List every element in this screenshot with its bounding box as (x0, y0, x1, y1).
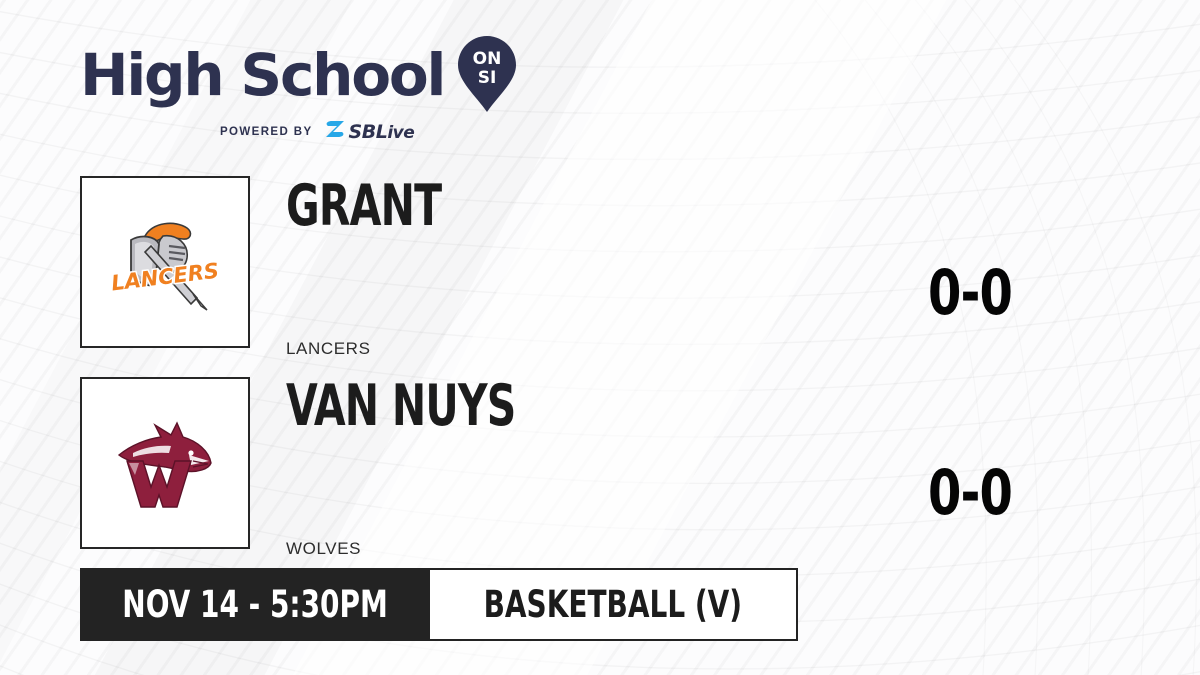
team-logo-box-grant: LANCERS (80, 176, 250, 348)
team-name-grant: GRANT (286, 178, 441, 235)
pin-text-si: SI (478, 68, 497, 88)
brand-wordmark: High School (80, 47, 444, 104)
lancers-banner-text: LANCERS (110, 258, 220, 295)
game-datetime-label: NOV 14 - 5:30PM (122, 583, 388, 626)
team-mascot-wolves: WOLVES (286, 539, 361, 559)
powered-by-label: POWERED BY (220, 126, 313, 138)
van-nuys-wolves-logo (105, 403, 225, 523)
team-mascot-lancers: LANCERS (286, 339, 371, 359)
team-logo-box-van-nuys (80, 377, 250, 549)
sblive-wordmark: SBLive (349, 121, 415, 143)
brand-wordmark-row: High School ON SI (80, 38, 516, 112)
brand-header: High School ON SI POWERED BY SBLive (80, 38, 516, 144)
onsi-pin-icon: ON SI (458, 36, 516, 112)
game-sport-label: BASKETBALL (V) (484, 583, 742, 626)
powered-by-row: POWERED BY SBLive (118, 119, 516, 144)
sblive-s-mark-icon (324, 119, 346, 144)
game-info-bar: NOV 14 - 5:30PM BASKETBALL (V) (80, 568, 798, 641)
sblive-lower: ive (387, 123, 414, 143)
sblive-logo: SBLive (324, 119, 415, 144)
grant-lancers-logo: LANCERS (105, 202, 225, 322)
team-name-van-nuys: VAN NUYS (286, 378, 516, 435)
team-record-grant: 0-0 (893, 262, 1048, 324)
team-record-van-nuys: 0-0 (893, 462, 1048, 524)
sblive-upper: SBL (349, 121, 388, 143)
game-datetime-block: NOV 14 - 5:30PM (80, 568, 430, 641)
game-sport-block: BASKETBALL (V) (430, 568, 798, 641)
pin-text-on: ON (473, 49, 502, 69)
